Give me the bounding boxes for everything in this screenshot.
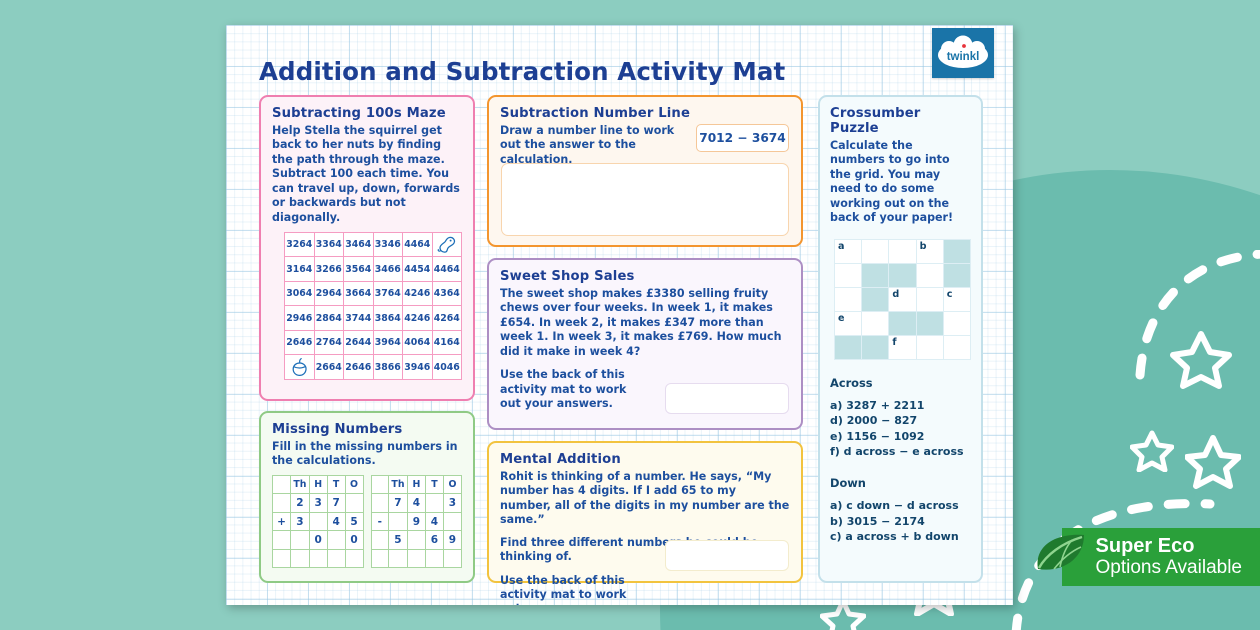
mn-cell[interactable]: 5 bbox=[389, 531, 408, 550]
crossumber-clue-letter: b bbox=[920, 241, 927, 252]
crossumber-blocked-cell bbox=[889, 311, 916, 335]
mn-header-cell: H bbox=[407, 475, 425, 494]
crossumber-blocked-cell bbox=[862, 287, 889, 311]
maze-cell[interactable]: 4046 bbox=[432, 355, 462, 380]
mn-header-cell bbox=[371, 475, 389, 494]
maze-cell[interactable]: 4164 bbox=[432, 330, 462, 355]
mental-addition-answer-box[interactable] bbox=[665, 540, 789, 571]
across-heading: Across bbox=[830, 376, 971, 390]
mn-row: 569 bbox=[371, 531, 462, 550]
maze-instructions: Help Stella the squirrel get back to her… bbox=[272, 124, 462, 225]
mn-cell[interactable]: + bbox=[273, 512, 291, 531]
maze-cell[interactable]: 2646 bbox=[285, 330, 315, 355]
mn-cell[interactable] bbox=[327, 531, 345, 550]
crossumber-cell[interactable] bbox=[862, 239, 889, 263]
mn-row: 743 bbox=[371, 494, 462, 513]
maze-cell[interactable]: 3346 bbox=[373, 232, 403, 257]
maze-cell[interactable]: 3664 bbox=[344, 281, 374, 306]
maze-cell[interactable]: 3364 bbox=[314, 232, 344, 257]
crossumber-cell[interactable] bbox=[943, 335, 970, 359]
panel-crossumber-puzzle: Crossumber Puzzle Calculate the numbers … bbox=[818, 95, 983, 583]
crossumber-row: dc bbox=[835, 287, 971, 311]
mn-row bbox=[273, 549, 364, 568]
maze-cell[interactable]: 3164 bbox=[285, 257, 315, 282]
mn-cell[interactable] bbox=[425, 549, 443, 568]
maze-cell[interactable]: 3764 bbox=[373, 281, 403, 306]
mn-cell[interactable]: 0 bbox=[345, 531, 363, 550]
down-clue-list: a) c down − d acrossb) 3015 − 2174c) a a… bbox=[830, 498, 971, 545]
crossumber-blocked-cell bbox=[862, 263, 889, 287]
clue-item: d) 2000 − 827 bbox=[830, 413, 971, 429]
maze-cell[interactable]: 4464 bbox=[432, 257, 462, 282]
maze-row: 294628643744386442464264 bbox=[285, 306, 462, 331]
twinkl-logo[interactable]: twinkl bbox=[932, 28, 994, 78]
clue-item: a) 3287 + 2211 bbox=[830, 398, 971, 414]
number-line-work-area[interactable] bbox=[501, 163, 789, 236]
maze-row: 316432663564346644544464 bbox=[285, 257, 462, 282]
maze-cell[interactable]: 3264 bbox=[285, 232, 315, 257]
crossumber-blocked-cell bbox=[889, 263, 916, 287]
crossumber-blocked-cell bbox=[943, 263, 970, 287]
clue-item: c) a across + b down bbox=[830, 529, 971, 545]
maze-row: 26642646386639464046 bbox=[285, 355, 462, 380]
maze-cell[interactable]: 3064 bbox=[285, 281, 315, 306]
mn-cell[interactable] bbox=[273, 531, 291, 550]
crossumber-clue-letter: a bbox=[838, 241, 844, 252]
maze-cell[interactable]: 4364 bbox=[432, 281, 462, 306]
crossumber-row: e bbox=[835, 311, 971, 335]
mn-cell[interactable] bbox=[309, 512, 327, 531]
mn-row: -94 bbox=[371, 512, 462, 531]
missing-numbers-instructions: Fill in the missing numbers in the calcu… bbox=[272, 440, 462, 469]
mn-header-cell bbox=[273, 475, 291, 494]
mn-cell[interactable] bbox=[309, 549, 327, 568]
mn-header-cell: Th bbox=[291, 475, 310, 494]
missing-numbers-table-right[interactable]: ThHTO743-94569 bbox=[371, 475, 463, 569]
mn-cell[interactable] bbox=[273, 549, 291, 568]
crossumber-clue-letter: d bbox=[892, 289, 899, 300]
mental-addition-use-back: Use the back of this activity mat to wor… bbox=[500, 574, 650, 605]
number-line-calculation: 7012 − 3674 bbox=[696, 124, 789, 152]
maze-cell[interactable]: 3464 bbox=[344, 232, 374, 257]
mn-cell[interactable]: 4 bbox=[425, 512, 443, 531]
maze-cell[interactable]: 3266 bbox=[314, 257, 344, 282]
crossumber-blocked-cell bbox=[862, 335, 889, 359]
maze-cell[interactable]: 2946 bbox=[285, 306, 315, 331]
clue-item: b) 3015 − 2174 bbox=[830, 514, 971, 530]
mn-cell[interactable] bbox=[291, 549, 310, 568]
mn-cell[interactable]: 7 bbox=[389, 494, 408, 513]
mn-cell[interactable]: 0 bbox=[309, 531, 327, 550]
mn-cell[interactable] bbox=[407, 531, 425, 550]
mental-addition-problem: Rohit is thinking of a number. He says, … bbox=[500, 470, 790, 528]
crossumber-cell[interactable] bbox=[943, 311, 970, 335]
crossumber-grid[interactable]: abdcef bbox=[834, 239, 971, 360]
crossumber-cell[interactable]: a bbox=[835, 239, 862, 263]
sweet-shop-use-back: Use the back of this activity mat to wor… bbox=[500, 368, 650, 411]
mn-header-cell: O bbox=[345, 475, 363, 494]
mn-cell[interactable] bbox=[371, 494, 389, 513]
panel-subtraction-number-line: Subtraction Number Line Draw a number li… bbox=[487, 95, 803, 247]
maze-cell[interactable]: 4064 bbox=[403, 330, 433, 355]
maze-cell[interactable]: 3864 bbox=[373, 306, 403, 331]
mn-header-row: ThHTO bbox=[371, 475, 462, 494]
mn-cell[interactable]: 9 bbox=[407, 512, 425, 531]
page-title: Addition and Subtraction Activity Mat bbox=[259, 57, 785, 86]
mn-cell[interactable]: 4 bbox=[407, 494, 425, 513]
down-heading: Down bbox=[830, 476, 971, 490]
mn-cell[interactable] bbox=[407, 549, 425, 568]
crossumber-row bbox=[835, 263, 971, 287]
crossumber-cell[interactable] bbox=[916, 287, 943, 311]
across-clue-list: a) 3287 + 2211d) 2000 − 827e) 1156 − 109… bbox=[830, 398, 971, 460]
mn-cell[interactable]: 3 bbox=[309, 494, 327, 513]
maze-cell[interactable]: 2764 bbox=[314, 330, 344, 355]
mn-cell[interactable] bbox=[389, 512, 408, 531]
acorn-icon[interactable] bbox=[285, 355, 315, 380]
mn-cell[interactable]: 7 bbox=[327, 494, 345, 513]
crossumber-cell[interactable] bbox=[889, 239, 916, 263]
svg-text:twinkl: twinkl bbox=[947, 51, 980, 63]
number-line-instructions: Draw a number line to work out the answe… bbox=[500, 124, 688, 167]
maze-cell[interactable]: 3466 bbox=[373, 257, 403, 282]
mn-cell[interactable] bbox=[443, 549, 461, 568]
mn-row: +345 bbox=[273, 512, 364, 531]
maze-row: 32643364346433464464 bbox=[285, 232, 462, 257]
maze-cell[interactable]: 3564 bbox=[344, 257, 374, 282]
mn-cell[interactable] bbox=[371, 549, 389, 568]
mn-cell[interactable] bbox=[291, 531, 310, 550]
crossumber-blocked-cell bbox=[943, 239, 970, 263]
clue-item: f) d across − e across bbox=[830, 444, 971, 460]
mn-cell[interactable] bbox=[273, 494, 291, 513]
mn-cell[interactable]: 5 bbox=[345, 512, 363, 531]
eco-badge-line2: Options Available bbox=[1096, 558, 1242, 579]
crossumber-clue-letter: f bbox=[892, 337, 896, 348]
mn-header-row: ThHTO bbox=[273, 475, 364, 494]
mn-header-cell: T bbox=[327, 475, 345, 494]
panel-subtracting-100s-maze: Subtracting 100s Maze Help Stella the sq… bbox=[259, 95, 475, 401]
crossumber-row: f bbox=[835, 335, 971, 359]
mn-header-cell: T bbox=[425, 475, 443, 494]
crossumber-blocked-cell bbox=[916, 311, 943, 335]
crossumber-cell[interactable] bbox=[916, 263, 943, 287]
crossumber-instructions: Calculate the numbers to go into the gri… bbox=[830, 139, 971, 226]
sweet-shop-problem: The sweet shop makes £3380 selling fruit… bbox=[500, 287, 790, 359]
mn-row: 00 bbox=[273, 531, 364, 550]
star-icon bbox=[1130, 430, 1174, 472]
mn-cell[interactable] bbox=[425, 494, 443, 513]
squirrel-icon[interactable] bbox=[432, 232, 462, 257]
mn-cell[interactable] bbox=[443, 512, 461, 531]
mn-row bbox=[371, 549, 462, 568]
maze-cell[interactable]: 3946 bbox=[403, 355, 433, 380]
dashed-arc-decoration bbox=[1130, 250, 1260, 384]
maze-cell[interactable]: 2864 bbox=[314, 306, 344, 331]
mn-row: 237 bbox=[273, 494, 364, 513]
crossumber-cell[interactable]: d bbox=[889, 287, 916, 311]
mn-cell[interactable]: 3 bbox=[443, 494, 461, 513]
maze-grid[interactable]: 3264336434643346446431643266356434664454… bbox=[284, 232, 462, 380]
maze-row: 306429643664376442464364 bbox=[285, 281, 462, 306]
crossumber-row: ab bbox=[835, 239, 971, 263]
mn-header-cell: Th bbox=[389, 475, 408, 494]
maze-cell[interactable]: 2644 bbox=[344, 330, 374, 355]
mn-cell[interactable] bbox=[389, 549, 408, 568]
missing-numbers-table-left[interactable]: ThHTO237+34500 bbox=[272, 475, 364, 569]
maze-title: Subtracting 100s Maze bbox=[272, 106, 462, 121]
missing-numbers-title: Missing Numbers bbox=[272, 422, 462, 437]
panel-mental-addition: Mental Addition Rohit is thinking of a n… bbox=[487, 441, 803, 583]
crossumber-blocked-cell bbox=[835, 335, 862, 359]
maze-cell[interactable]: 2664 bbox=[314, 355, 344, 380]
mn-cell[interactable]: 2 bbox=[291, 494, 310, 513]
panel-sweet-shop-sales: Sweet Shop Sales The sweet shop makes £3… bbox=[487, 258, 803, 430]
maze-cell[interactable]: 4246 bbox=[403, 306, 433, 331]
clue-item: e) 1156 − 1092 bbox=[830, 429, 971, 445]
sweet-shop-title: Sweet Shop Sales bbox=[500, 269, 790, 284]
crossumber-cell[interactable] bbox=[835, 263, 862, 287]
crossumber-clue-letter: e bbox=[838, 313, 845, 324]
maze-cell[interactable]: 4464 bbox=[403, 232, 433, 257]
mn-header-cell: H bbox=[309, 475, 327, 494]
mn-cell[interactable] bbox=[327, 549, 345, 568]
maze-cell[interactable]: 3744 bbox=[344, 306, 374, 331]
crossumber-cell[interactable] bbox=[835, 287, 862, 311]
mn-cell[interactable]: 6 bbox=[425, 531, 443, 550]
worksheet-page: twinkl Addition and Subtraction Activity… bbox=[226, 25, 1013, 605]
number-line-title: Subtraction Number Line bbox=[500, 106, 790, 121]
eco-badge-line1: Super Eco bbox=[1096, 536, 1242, 558]
maze-cell[interactable]: 3964 bbox=[373, 330, 403, 355]
maze-cell[interactable]: 2646 bbox=[344, 355, 374, 380]
mn-cell[interactable]: - bbox=[371, 512, 389, 531]
mn-cell[interactable]: 4 bbox=[327, 512, 345, 531]
crossumber-cell[interactable] bbox=[862, 311, 889, 335]
sweet-shop-answer-box[interactable] bbox=[665, 383, 789, 414]
maze-row: 264627642644396440644164 bbox=[285, 330, 462, 355]
maze-cell[interactable]: 3866 bbox=[373, 355, 403, 380]
crossumber-cell[interactable]: b bbox=[916, 239, 943, 263]
mn-cell[interactable] bbox=[345, 494, 363, 513]
maze-cell[interactable]: 4264 bbox=[432, 306, 462, 331]
mn-cell[interactable] bbox=[345, 549, 363, 568]
clue-item: a) c down − d across bbox=[830, 498, 971, 514]
mn-cell[interactable]: 3 bbox=[291, 512, 310, 531]
maze-cell[interactable]: 4246 bbox=[403, 281, 433, 306]
maze-cell[interactable]: 2964 bbox=[314, 281, 344, 306]
mn-cell[interactable]: 9 bbox=[443, 531, 461, 550]
crossumber-title: Crossumber Puzzle bbox=[830, 106, 971, 136]
super-eco-badge: Super Eco Options Available bbox=[1062, 528, 1260, 586]
mental-addition-title: Mental Addition bbox=[500, 452, 790, 467]
crossumber-cell[interactable]: f bbox=[889, 335, 916, 359]
leaf-icon bbox=[1032, 531, 1088, 580]
crossumber-cell[interactable]: c bbox=[943, 287, 970, 311]
crossumber-cell[interactable] bbox=[916, 335, 943, 359]
crossumber-cell[interactable]: e bbox=[835, 311, 862, 335]
crossumber-clue-letter: c bbox=[947, 289, 953, 300]
mn-header-cell: O bbox=[443, 475, 461, 494]
maze-cell[interactable]: 4454 bbox=[403, 257, 433, 282]
mn-cell[interactable] bbox=[371, 531, 389, 550]
panel-missing-numbers: Missing Numbers Fill in the missing numb… bbox=[259, 411, 475, 583]
